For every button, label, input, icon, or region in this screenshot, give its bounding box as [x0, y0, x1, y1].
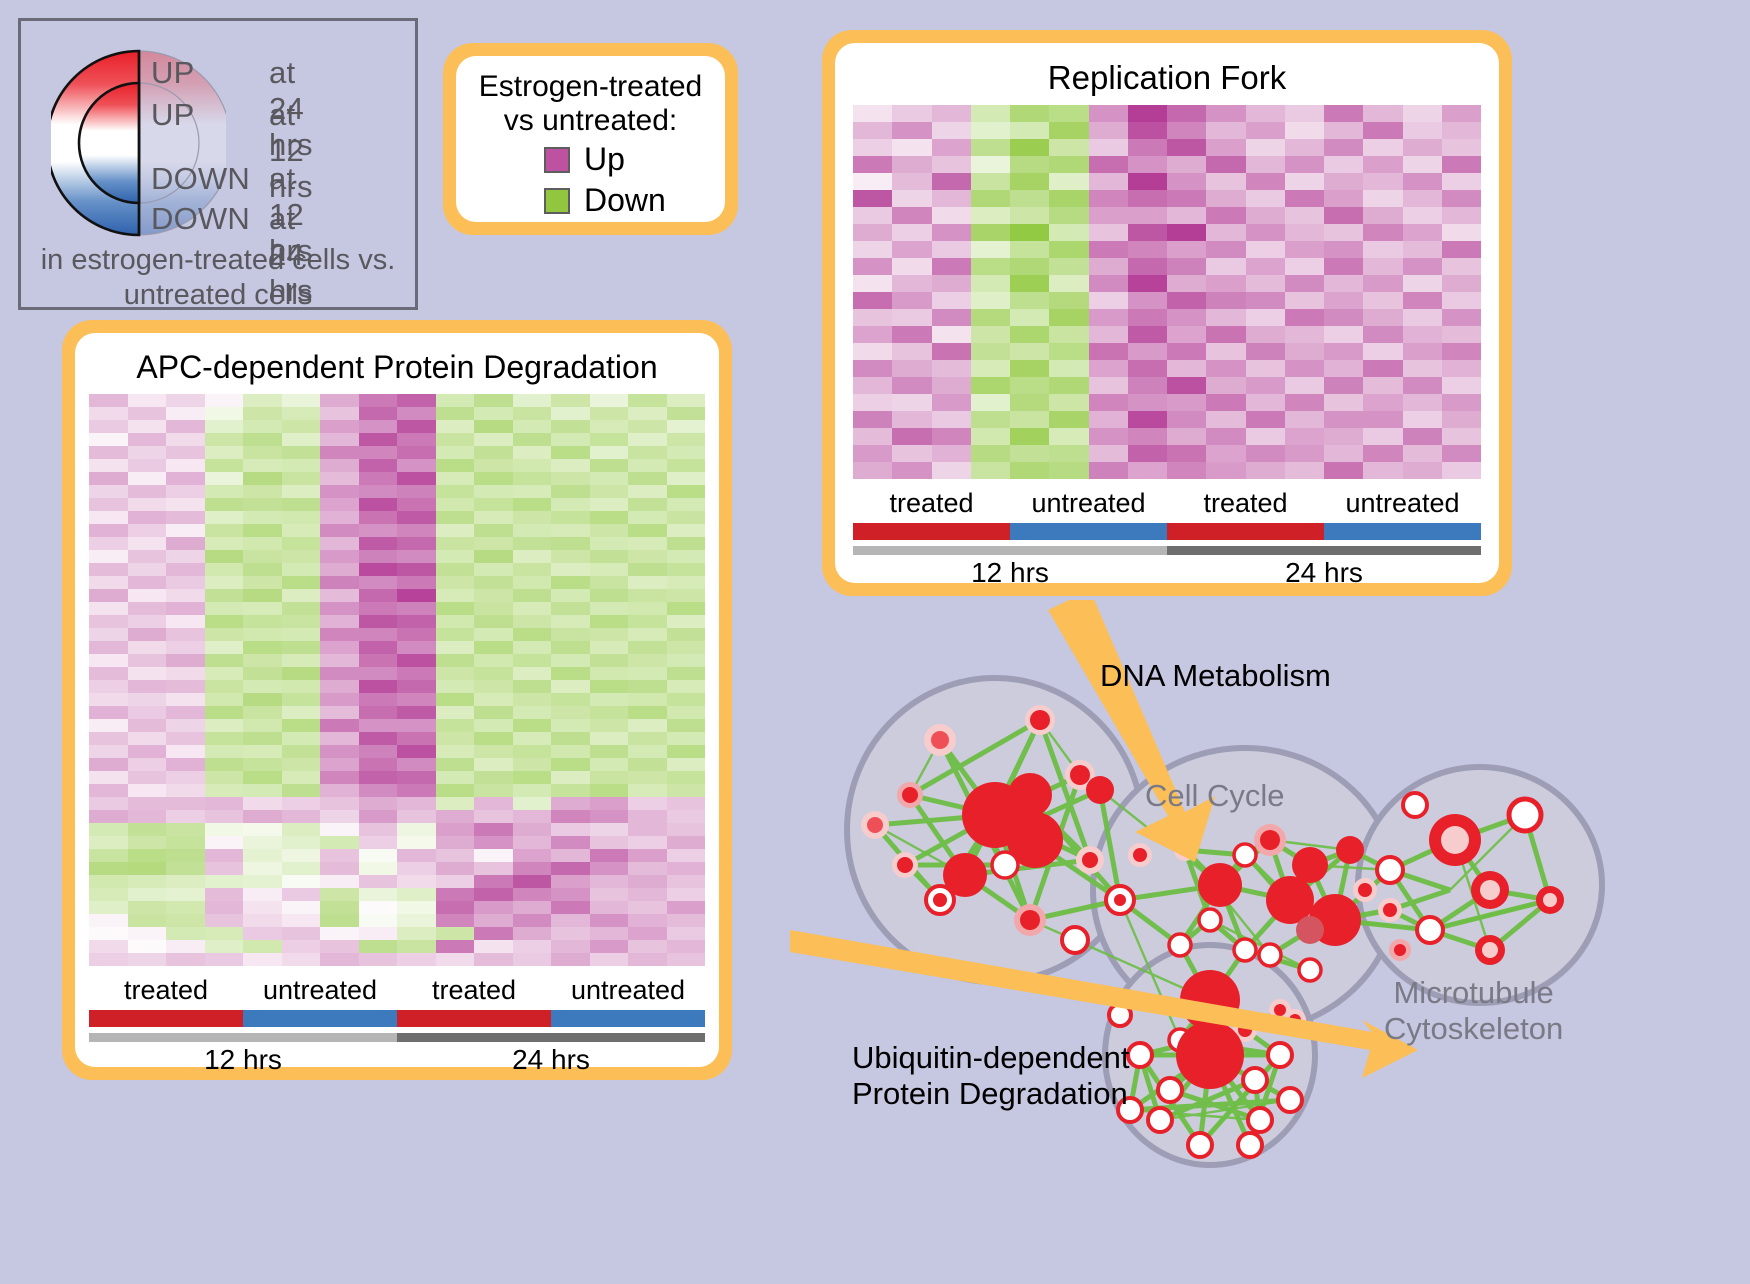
heatmap-cell	[128, 602, 167, 615]
heatmap-cell	[1363, 377, 1402, 394]
panel-title: Replication Fork	[853, 59, 1481, 97]
heatmap-cell	[971, 224, 1010, 241]
heatmap-cell	[282, 407, 321, 420]
heatmap-cell	[513, 849, 552, 862]
heatmap-cell	[667, 459, 706, 472]
heatmap-cell	[667, 875, 706, 888]
heatmap-cell	[128, 589, 167, 602]
heatmap-cell	[474, 888, 513, 901]
heatmap-cell	[436, 433, 475, 446]
heatmap-cell	[282, 927, 321, 940]
heatmap-cell	[166, 771, 205, 784]
heatmap-cell	[513, 953, 552, 966]
heatmap-cell	[320, 875, 359, 888]
heatmap-cell	[128, 927, 167, 940]
heatmap-cell	[243, 498, 282, 511]
heatmap-cell	[971, 309, 1010, 326]
heatmap-cell	[1206, 258, 1245, 275]
heatmap-cell	[205, 589, 244, 602]
heatmap-cell	[359, 706, 398, 719]
heatmap-cell	[166, 680, 205, 693]
heatmap-cell	[1246, 394, 1285, 411]
heatmap-cell	[551, 745, 590, 758]
heatmap-cell	[474, 511, 513, 524]
heatmap-cell	[359, 719, 398, 732]
heatmap-cell	[436, 797, 475, 810]
heatmap-cell	[1206, 292, 1245, 309]
heatmap-cell	[1324, 445, 1363, 462]
heatmap-cell	[1363, 445, 1402, 462]
heatmap-cell	[667, 602, 706, 615]
heatmap-cell	[1363, 241, 1402, 258]
heatmap-cell	[551, 511, 590, 524]
heatmap-cell	[205, 615, 244, 628]
heatmap-cell	[1167, 445, 1206, 462]
heatmap-cell	[590, 615, 629, 628]
heatmap-cell	[590, 420, 629, 433]
heatmap-cell	[359, 836, 398, 849]
heatmap-cell	[590, 836, 629, 849]
heatmap-cell	[359, 875, 398, 888]
heatmap-cell	[590, 680, 629, 693]
heatmap-cell	[397, 680, 436, 693]
heatmap-cell	[436, 394, 475, 407]
heatmap-cell	[436, 732, 475, 745]
heatmap-cell	[205, 706, 244, 719]
heatmap-cell	[474, 719, 513, 732]
heatmap-cell	[436, 823, 475, 836]
heatmap-cell	[1363, 156, 1402, 173]
timepoint-labels: 12 hrs 24 hrs	[89, 1044, 705, 1076]
heatmap-cell	[243, 628, 282, 641]
heatmap-cell	[474, 836, 513, 849]
heatmap-cell	[243, 459, 282, 472]
heatmap-cell	[667, 719, 706, 732]
heatmap-cell	[166, 810, 205, 823]
heatmap-cell	[243, 875, 282, 888]
heatmap-cell	[1363, 428, 1402, 445]
heatmap-cell	[551, 446, 590, 459]
heatmap-cell	[320, 654, 359, 667]
heatmap-cell	[474, 576, 513, 589]
heatmap-cell	[1010, 207, 1049, 224]
heatmap-cell	[436, 836, 475, 849]
condition-bar-segment	[243, 1010, 397, 1027]
heatmap-cell	[243, 667, 282, 680]
heatmap-cell	[628, 589, 667, 602]
heatmap-cell	[1206, 360, 1245, 377]
heatmap-cell	[932, 122, 971, 139]
heatmap-cell	[282, 784, 321, 797]
heatmap-cell	[128, 394, 167, 407]
heatmap-cell	[1324, 156, 1363, 173]
heatmap-cell	[474, 420, 513, 433]
heatmap-cell	[590, 732, 629, 745]
heatmap-cell	[243, 407, 282, 420]
heatmap-cell	[397, 797, 436, 810]
heatmap-cell	[436, 498, 475, 511]
heatmap-cell	[1363, 105, 1402, 122]
heatmap-cell	[128, 784, 167, 797]
timepoint-label: 12 hrs	[89, 1044, 397, 1076]
heatmap-cell	[1206, 411, 1245, 428]
heatmap-cell	[243, 732, 282, 745]
heatmap-cell	[474, 823, 513, 836]
heatmap-cell	[1049, 343, 1088, 360]
heatmap-cell	[1324, 173, 1363, 190]
heatmap-cell	[359, 459, 398, 472]
heatmap-cell	[1128, 275, 1167, 292]
heatmap-cell	[1442, 190, 1481, 207]
heatmap-cell	[1206, 428, 1245, 445]
heatmap-cell	[282, 745, 321, 758]
heatmap-cell	[205, 420, 244, 433]
heatmap-cell	[513, 563, 552, 576]
heatmap-cell	[892, 241, 931, 258]
heatmap-cell	[243, 953, 282, 966]
heatmap-cell	[1324, 360, 1363, 377]
heatmap-cell	[243, 849, 282, 862]
condition-label: untreated	[243, 975, 397, 1006]
heatmap-cell	[1128, 139, 1167, 156]
heatmap-cell	[1049, 105, 1088, 122]
heatmap-cell	[1167, 428, 1206, 445]
heatmap-cell	[282, 459, 321, 472]
heatmap-cell	[474, 680, 513, 693]
heatmap-cell	[1403, 428, 1442, 445]
heatmap-cell	[474, 498, 513, 511]
condition-bar-segment	[1324, 523, 1481, 540]
heatmap-cell	[551, 732, 590, 745]
heatmap-cell	[474, 459, 513, 472]
heatmap-cell	[359, 537, 398, 550]
heatmap-cell	[853, 428, 892, 445]
heatmap-cell	[1442, 105, 1481, 122]
heatmap-cell	[628, 524, 667, 537]
heatmap-cell	[243, 563, 282, 576]
heatmap-cell	[551, 758, 590, 771]
heatmap-cell	[320, 550, 359, 563]
heatmap-cell	[397, 719, 436, 732]
heatmap-cell	[243, 888, 282, 901]
heatmap-cell	[474, 693, 513, 706]
heatmap-cell	[1363, 360, 1402, 377]
heatmap-cell	[89, 485, 128, 498]
heatmap-cell	[436, 537, 475, 550]
heatmap-cell	[89, 719, 128, 732]
heatmap-cell	[397, 836, 436, 849]
key-panel-title: Estrogen-treated vs untreated:	[466, 70, 715, 137]
heatmap-cell	[667, 693, 706, 706]
heatmap-cell	[628, 875, 667, 888]
heatmap-cell	[282, 888, 321, 901]
heatmap-cell	[932, 377, 971, 394]
heatmap-cell	[971, 360, 1010, 377]
heatmap-cell	[282, 589, 321, 602]
heatmap-cell	[474, 589, 513, 602]
heatmap-cell	[1049, 122, 1088, 139]
heatmap-cell	[1442, 156, 1481, 173]
heatmap-cell	[282, 667, 321, 680]
heatmap-cell	[1246, 139, 1285, 156]
heatmap-cell	[205, 784, 244, 797]
heatmap-cell	[551, 602, 590, 615]
heatmap-cell	[1324, 462, 1363, 479]
heatmap-cell	[89, 706, 128, 719]
heatmap-cell	[359, 641, 398, 654]
heatmap-cell	[1324, 326, 1363, 343]
heatmap-cell	[628, 537, 667, 550]
heatmap-cell	[205, 953, 244, 966]
heatmap-cell	[628, 927, 667, 940]
heatmap-cell	[628, 563, 667, 576]
timepoint-color-bar	[853, 546, 1481, 555]
heatmap-cell	[590, 498, 629, 511]
heatmap-cell	[397, 628, 436, 641]
heatmap-cell	[667, 563, 706, 576]
heatmap-cell	[359, 927, 398, 940]
heatmap-color-key-panel: Estrogen-treated vs untreated: Up Down	[443, 43, 738, 235]
heatmap-cell	[89, 784, 128, 797]
heatmap-cell	[667, 576, 706, 589]
heatmap-cell	[320, 758, 359, 771]
heatmap-cell	[628, 472, 667, 485]
heatmap-cell	[551, 628, 590, 641]
heatmap-cell	[128, 836, 167, 849]
timepoint-bar-segment	[853, 546, 1167, 555]
heatmap-cell	[282, 563, 321, 576]
heatmap-cell	[205, 446, 244, 459]
heatmap-cell	[932, 428, 971, 445]
heatmap-cell	[853, 241, 892, 258]
cluster-label-microtubule-cytoskeleton: Microtubule Cytoskeleton	[1384, 975, 1563, 1046]
heatmap-cell	[166, 511, 205, 524]
heatmap-cell	[892, 343, 931, 360]
heatmap-cell	[1089, 224, 1128, 241]
heatmap-cell	[590, 576, 629, 589]
heatmap-cell	[1128, 309, 1167, 326]
heatmap-cell	[551, 888, 590, 901]
heatmap-cell	[128, 953, 167, 966]
condition-bar-segment	[853, 523, 1010, 540]
heatmap-cell	[1206, 241, 1245, 258]
heatmap-cell	[1285, 377, 1324, 394]
heatmap-cell	[89, 524, 128, 537]
heatmap-cell	[436, 849, 475, 862]
heatmap-cell	[513, 693, 552, 706]
heatmap-cell	[513, 511, 552, 524]
heatmap-cell	[1089, 207, 1128, 224]
heatmap-cell	[1089, 292, 1128, 309]
heatmap-cell	[243, 862, 282, 875]
heatmap-cell	[1049, 360, 1088, 377]
heatmap-cell	[397, 407, 436, 420]
heatmap-cell	[667, 706, 706, 719]
heatmap-cell	[1285, 309, 1324, 326]
heatmap-cell	[128, 745, 167, 758]
heatmap-cell	[282, 628, 321, 641]
heatmap-cell	[282, 511, 321, 524]
heatmap-cell	[932, 445, 971, 462]
heatmap-cell	[166, 940, 205, 953]
heatmap-cell	[397, 589, 436, 602]
heatmap-cell	[1363, 394, 1402, 411]
heatmap-cell	[474, 940, 513, 953]
heatmap-cell	[1442, 258, 1481, 275]
heatmap-cell	[892, 207, 931, 224]
heatmap-cell	[628, 836, 667, 849]
heatmap-cell	[282, 823, 321, 836]
heatmap-cell	[320, 563, 359, 576]
heatmap-cell	[513, 771, 552, 784]
heatmap-cell	[282, 849, 321, 862]
heatmap-cell	[971, 139, 1010, 156]
heatmap-cell	[892, 360, 931, 377]
heatmap-cell	[1324, 258, 1363, 275]
heatmap-cell	[474, 407, 513, 420]
heatmap-cell	[1442, 360, 1481, 377]
heatmap-cell	[1206, 190, 1245, 207]
heatmap-cell	[1089, 156, 1128, 173]
heatmap-cell	[1010, 258, 1049, 275]
heatmap-cell	[1010, 139, 1049, 156]
heatmap-cell	[590, 485, 629, 498]
heatmap-cell	[1128, 190, 1167, 207]
heatmap-cell	[513, 589, 552, 602]
heatmap-cell	[628, 888, 667, 901]
heatmap-cell	[359, 394, 398, 407]
heatmap-cell	[1128, 258, 1167, 275]
heatmap-cell	[513, 459, 552, 472]
heatmap-cell	[1128, 122, 1167, 139]
heatmap-cell	[1246, 343, 1285, 360]
heatmap-cell	[1285, 411, 1324, 428]
heatmap-cell	[853, 122, 892, 139]
heatmap-cell	[89, 420, 128, 433]
heatmap-cell	[551, 810, 590, 823]
heatmap-cell	[397, 693, 436, 706]
heatmap-cell	[971, 292, 1010, 309]
heatmap-cell	[282, 394, 321, 407]
heatmap-cell	[667, 628, 706, 641]
heatmap-cell	[397, 420, 436, 433]
heatmap-cell	[853, 292, 892, 309]
heatmap-cell	[89, 758, 128, 771]
heatmap-cell	[590, 901, 629, 914]
heatmap-cell	[590, 407, 629, 420]
heatmap-cell	[436, 667, 475, 680]
heatmap-cell	[359, 901, 398, 914]
heatmap-cell	[166, 550, 205, 563]
heatmap-cell	[853, 445, 892, 462]
cluster-label-ubiquitin-protein-degradation: Ubiquitin-dependent Protein Degradation	[852, 1040, 1130, 1111]
heatmap-cell	[1089, 394, 1128, 411]
key-item-down: Down	[544, 182, 715, 219]
heatmap-cell	[1324, 190, 1363, 207]
heatmap-cell	[513, 784, 552, 797]
heatmap-cell	[359, 771, 398, 784]
heatmap-cell	[1206, 156, 1245, 173]
heatmap-cell	[590, 888, 629, 901]
heatmap-cell	[1403, 105, 1442, 122]
heatmap-cell	[513, 875, 552, 888]
heatmap-cell	[1010, 377, 1049, 394]
heatmap-cell	[1167, 326, 1206, 343]
heatmap-cell	[166, 459, 205, 472]
heatmap-cell	[1167, 173, 1206, 190]
heatmap-cell	[1010, 309, 1049, 326]
heatmap-cell	[320, 498, 359, 511]
condition-labels: treated untreated treated untreated	[853, 488, 1481, 519]
heatmap-cell	[1049, 428, 1088, 445]
heatmap-cell	[436, 602, 475, 615]
heatmap-cell	[397, 706, 436, 719]
heatmap-cell	[359, 472, 398, 485]
heatmap-cell	[971, 258, 1010, 275]
heatmap-cell	[89, 914, 128, 927]
heatmap-cell	[892, 326, 931, 343]
heatmap-cell	[474, 615, 513, 628]
heatmap-cell	[513, 758, 552, 771]
heatmap-cell	[359, 420, 398, 433]
heatmap-cell	[243, 602, 282, 615]
heatmap-cell	[1167, 377, 1206, 394]
heatmap-cell	[397, 927, 436, 940]
heatmap-cell	[551, 940, 590, 953]
heatmap-cell	[397, 875, 436, 888]
heatmap-cell	[89, 888, 128, 901]
heatmap-cell	[513, 810, 552, 823]
heatmap-cell	[474, 602, 513, 615]
heatmap-cell	[166, 472, 205, 485]
heatmap-cell	[1010, 360, 1049, 377]
heatmap-cell	[320, 732, 359, 745]
heatmap-cell	[243, 927, 282, 940]
heatmap-cell	[551, 875, 590, 888]
heatmap-cell	[513, 914, 552, 927]
heatmap-cell	[1128, 462, 1167, 479]
heatmap-cell	[320, 589, 359, 602]
heatmap-cell	[628, 849, 667, 862]
condition-color-bar	[89, 1010, 705, 1027]
heatmap-cell	[436, 628, 475, 641]
heatmap-cell	[89, 771, 128, 784]
heatmap-cell	[971, 156, 1010, 173]
heatmap-cell	[1010, 411, 1049, 428]
heatmap-cell	[282, 433, 321, 446]
heatmap-cell	[436, 901, 475, 914]
heatmap-cell	[853, 156, 892, 173]
heatmap-cell	[205, 875, 244, 888]
heatmap-cell	[243, 797, 282, 810]
heatmap-cell	[1049, 258, 1088, 275]
heatmap-cell	[1324, 292, 1363, 309]
heatmap-cell	[1442, 207, 1481, 224]
heatmap-cell	[1403, 309, 1442, 326]
heatmap-cell	[128, 901, 167, 914]
replication-fork-inner: Replication Fork treated untreated treat…	[835, 43, 1499, 583]
heatmap-cell	[1246, 326, 1285, 343]
heatmap-cell	[128, 810, 167, 823]
heatmap-cell	[128, 862, 167, 875]
heatmap-cell	[628, 758, 667, 771]
heatmap-cell	[436, 875, 475, 888]
heatmap-cell	[513, 498, 552, 511]
heatmap-cell	[89, 940, 128, 953]
heatmap-cell	[1010, 156, 1049, 173]
heatmap-cell	[1363, 462, 1402, 479]
heatmap-cell	[1089, 309, 1128, 326]
